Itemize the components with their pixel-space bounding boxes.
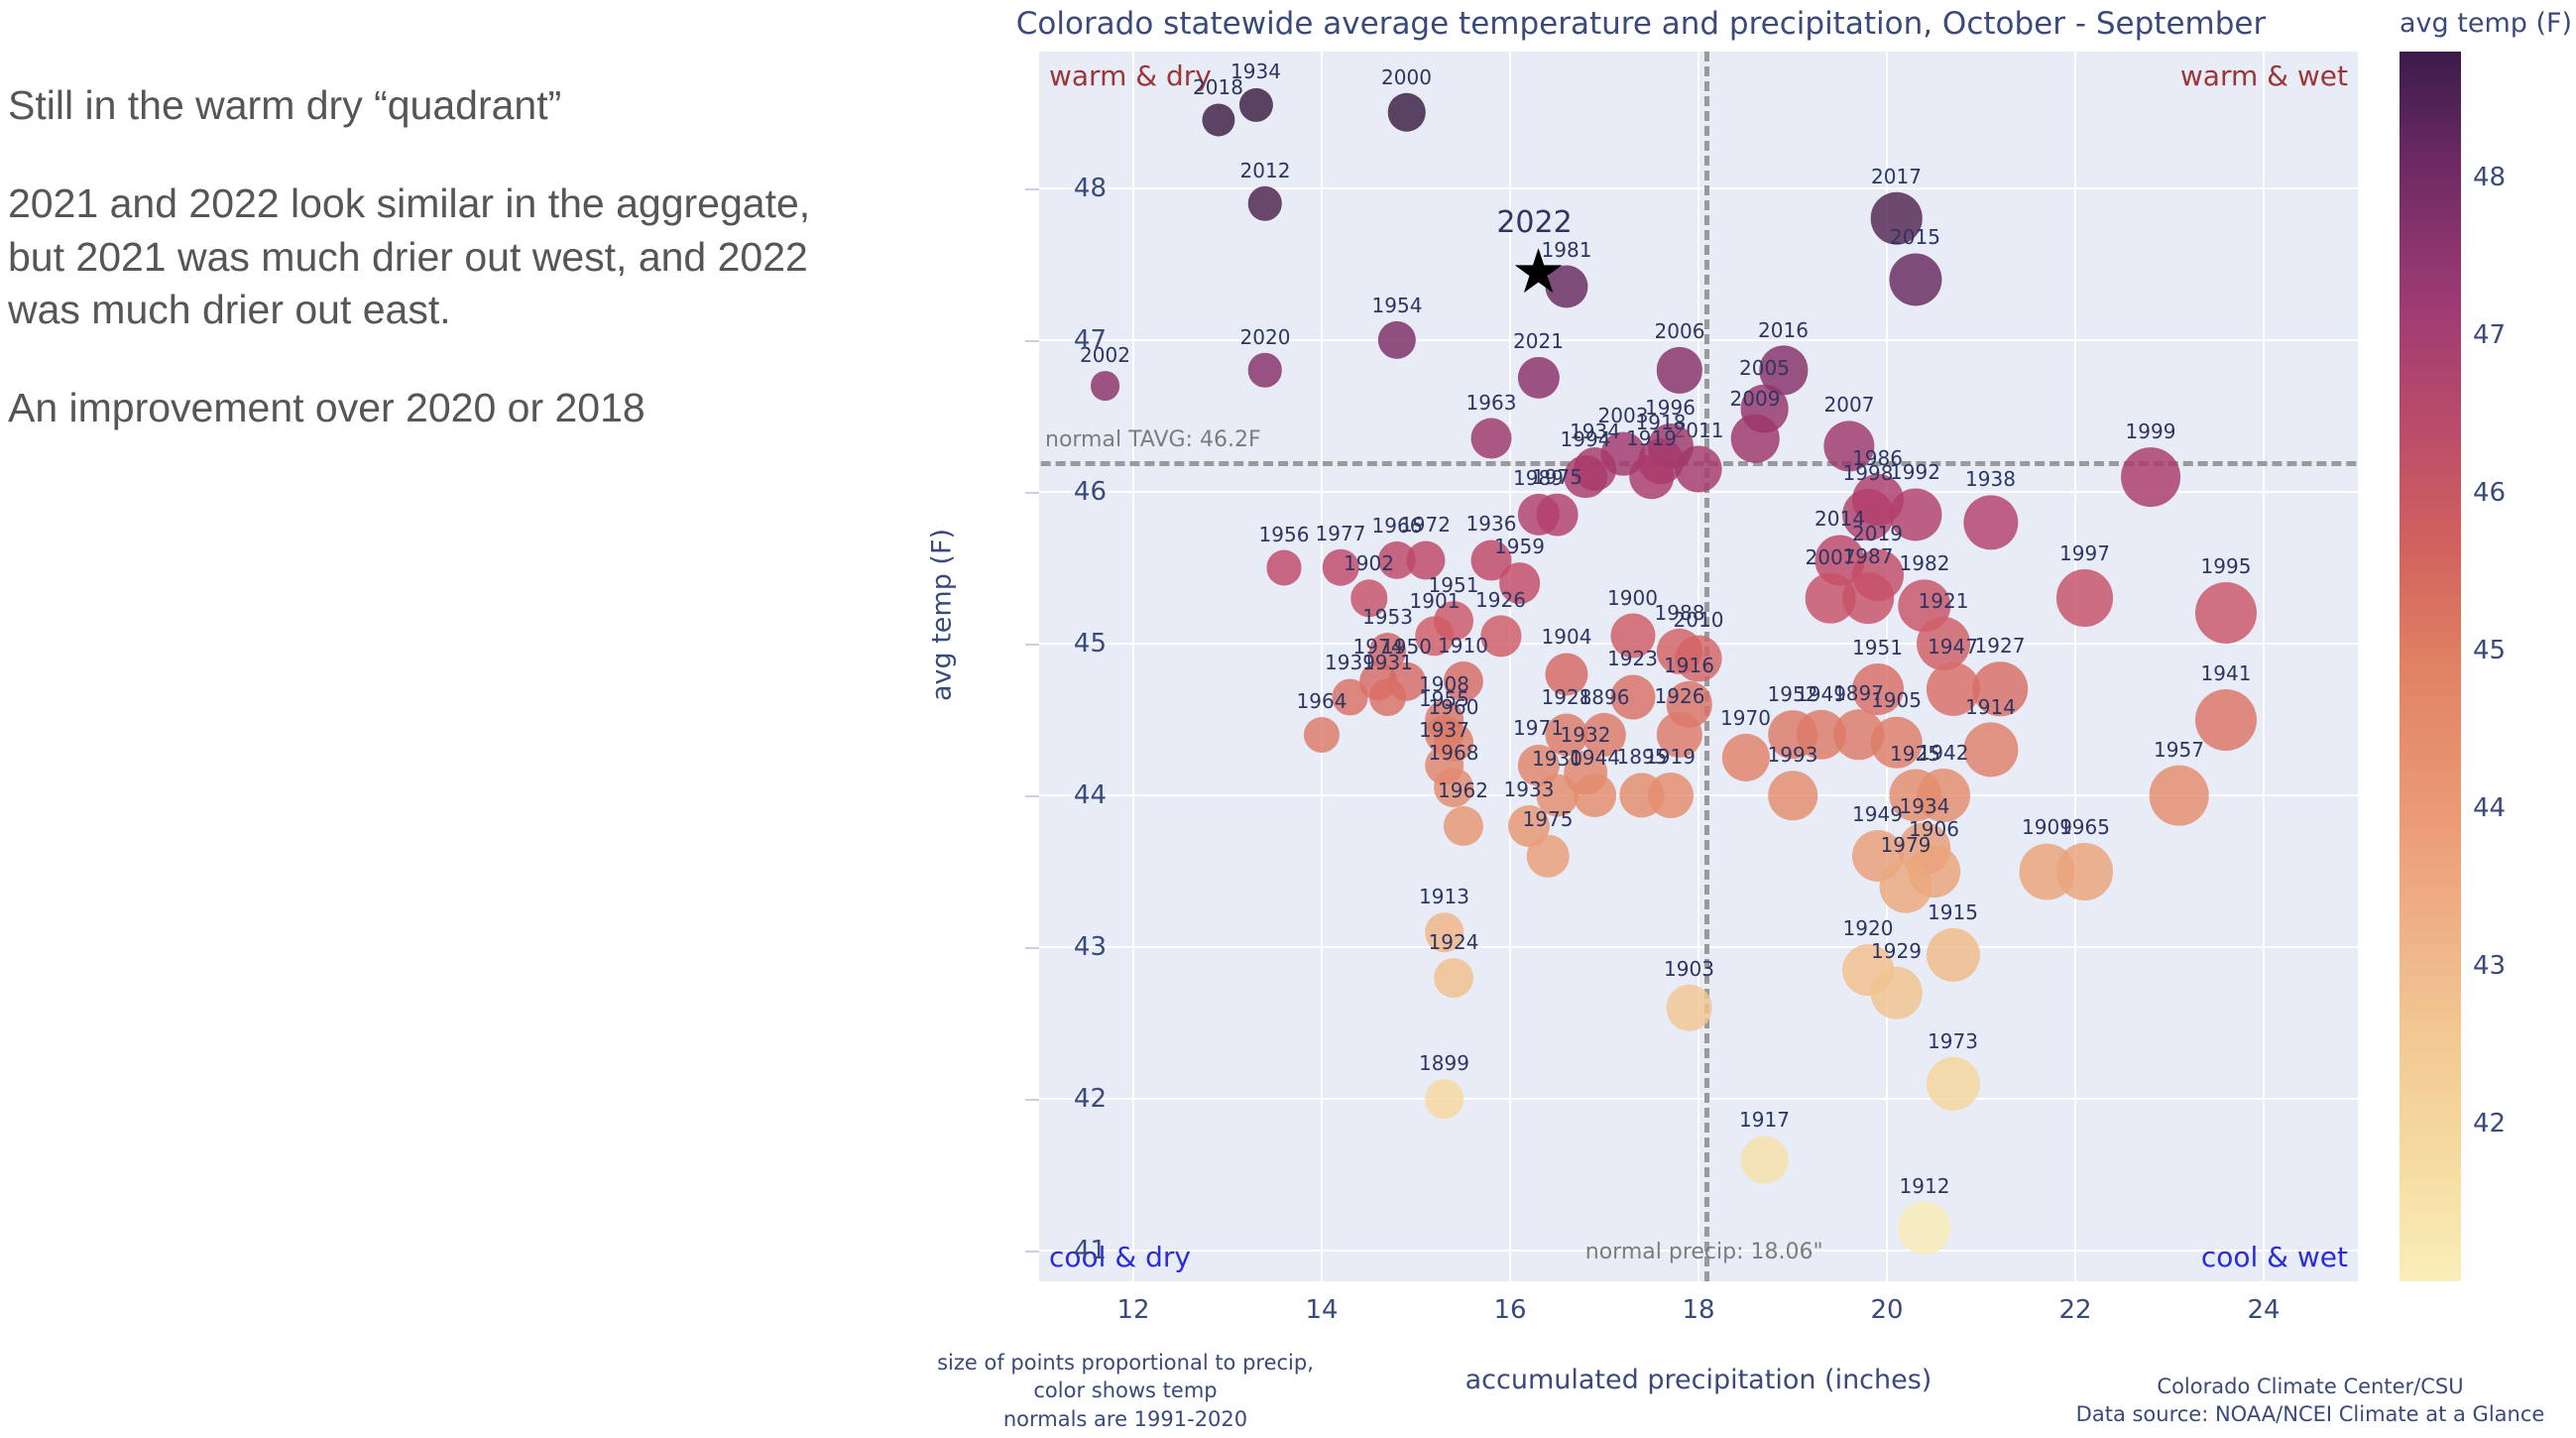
scatter-point[interactable] [1629,454,1675,500]
scatter-point[interactable] [1666,985,1712,1031]
grid-line-horizontal [1039,339,2358,341]
scatter-point[interactable] [1963,495,2018,549]
scatter-point-label: 1904 [1542,625,1592,649]
scatter-chart-figure: Colorado statewide average temperature a… [922,0,2576,1438]
scatter-point[interactable] [1582,713,1626,757]
y-axis-tick-label: 47 [1074,325,1107,355]
scatter-point[interactable] [1851,663,1903,715]
figure-footnote: size of points proportional to precip,co… [912,1349,1339,1433]
scatter-point[interactable] [1564,455,1607,499]
normal-temp-label: normal TAVG: 46.2F [1045,427,1261,452]
scatter-point-label: 2000 [1381,65,1432,89]
scatter-point[interactable] [1406,540,1445,579]
scatter-point-label: 1997 [2059,541,2110,565]
scatter-point-label: 1949 [1796,682,1846,706]
colorbar-tick-label: 48 [2473,163,2506,192]
y-axis-tick-mark [1025,795,1039,797]
scatter-point-label: 1895 [1617,745,1668,769]
scatter-point[interactable] [2195,689,2257,751]
scatter-point-label: 1941 [2201,661,2252,685]
scatter-point[interactable] [1842,489,1894,540]
scatter-point[interactable] [1768,771,1817,820]
y-axis-tick-mark [1025,492,1039,494]
scatter-point[interactable] [1721,734,1769,781]
highlight-star-label: 2022 [1496,205,1572,240]
scatter-point[interactable] [2149,766,2209,826]
commentary-panel: Still in the warm dry “quadrant” 2021 an… [0,0,922,1438]
text-line: Data source: NOAA/NCEI Climate at a Glan… [2052,1400,2568,1428]
highlight-star-marker[interactable]: ★ [1511,247,1567,297]
scatter-point[interactable] [1963,723,2018,778]
y-axis-tick-label: 48 [1074,174,1107,203]
y-axis-tick-mark [1025,1099,1039,1101]
x-axis-tick-label: 14 [1305,1295,1338,1325]
x-axis-tick-label: 16 [1493,1295,1526,1325]
scatter-point[interactable] [1434,769,1473,808]
scatter-point[interactable] [1527,835,1570,878]
scatter-point-label: 1972 [1400,513,1451,537]
y-axis-tick-mark [1025,644,1039,646]
scatter-point[interactable] [2056,569,2114,627]
quadrant-label-cool-dry: cool & dry [1049,1241,1191,1273]
colorbar-tick-label: 47 [2473,320,2506,350]
scatter-point-label: 1917 [1739,1108,1790,1132]
scatter-point-label: 1913 [1419,885,1469,908]
scatter-point[interactable] [1248,186,1282,220]
grid-line-horizontal [1039,187,2358,189]
scatter-point-label: 1942 [1919,741,1969,765]
scatter-point[interactable] [1443,661,1482,701]
scatter-point-label: 1938 [1965,467,2016,491]
y-axis-tick-label: 41 [1074,1236,1107,1265]
commentary-paragraph-1: Still in the warm dry “quadrant” [8,79,811,132]
scatter-point[interactable] [1842,572,1894,624]
commentary-paragraph-3: An improvement over 2020 or 2018 [8,382,811,434]
scatter-point[interactable] [1870,967,1923,1019]
scatter-point[interactable] [1889,488,1941,540]
scatter-point[interactable] [1304,717,1340,753]
grid-line-vertical [2074,52,2076,1281]
text-line: size of points proportional to precip, [912,1349,1339,1377]
plot-area: normal TAVG: 46.2Fnormal precip: 18.06"w… [1039,52,2358,1281]
grid-line-horizontal [1039,1098,2358,1100]
scatter-point[interactable] [1610,674,1655,719]
scatter-point-label: 1995 [2201,554,2252,578]
scatter-point[interactable] [1480,616,1521,657]
y-axis-tick-mark [1025,947,1039,949]
scatter-point[interactable] [1610,614,1655,659]
scatter-point[interactable] [1091,371,1120,401]
scatter-point-label: 2020 [1240,325,1291,349]
scatter-point[interactable] [1870,192,1923,245]
y-axis-tick-label: 45 [1074,629,1107,659]
scatter-point-label: 1951 [1852,636,1903,659]
scatter-point-label: 1951 [1429,573,1479,597]
scatter-point-label: 1927 [1975,634,2026,658]
scatter-point-label: 2017 [1871,165,1922,188]
x-axis-tick-label: 12 [1116,1295,1149,1325]
colorbar-tick-label: 45 [2473,636,2506,665]
scatter-point[interactable] [2195,582,2257,644]
scatter-point-label: 1989 [1513,466,1564,490]
scatter-point-label: 1973 [1928,1029,1978,1053]
scatter-point-label: 1915 [1928,900,1978,924]
scatter-point-label: 1909 [2022,815,2072,839]
text-line: normals are 1991-2020 [912,1405,1339,1433]
scatter-point[interactable] [1889,253,1941,305]
grid-line-horizontal [1039,946,2358,948]
scatter-point[interactable] [1369,678,1407,716]
colorbar-gradient [2400,52,2461,1281]
scatter-point[interactable] [1898,1202,1950,1255]
scatter-point[interactable] [1499,562,1541,604]
scatter-point[interactable] [2056,843,2114,900]
scatter-point-label: 1957 [2154,738,2204,762]
scatter-point[interactable] [1657,347,1702,393]
normal-precip-label: normal precip: 18.06" [1585,1240,1823,1264]
scatter-point[interactable] [1238,87,1272,121]
scatter-point[interactable] [1332,678,1368,715]
scatter-point-label: 1899 [1419,1051,1469,1075]
scatter-point-label: 1900 [1607,586,1658,610]
scatter-point[interactable] [1378,321,1416,359]
scatter-point-label: 1912 [1900,1174,1950,1198]
scatter-point-label: 1977 [1316,522,1366,545]
y-axis-tick-mark [1025,1251,1039,1253]
scatter-point[interactable] [1434,958,1473,998]
scatter-point-label: 1952 [1768,682,1818,706]
scatter-point-label: 1999 [2126,419,2176,443]
quadrant-label-warm-wet: warm & wet [2180,60,2348,92]
scatter-point[interactable] [1545,653,1587,695]
text-line: color shows temp [912,1377,1339,1404]
colorbar-title: avg temp (F) [2400,8,2572,39]
colorbar-tick-label: 46 [2473,478,2506,508]
scatter-point[interactable] [1880,861,1932,913]
y-axis-tick-label: 42 [1074,1084,1107,1114]
y-axis-tick-mark [1025,188,1039,190]
scatter-point[interactable] [1266,550,1301,585]
scatter-point[interactable] [1740,1136,1789,1184]
grid-line-vertical [1132,52,1134,1281]
x-axis-tick-label: 20 [1870,1295,1903,1325]
scatter-point[interactable] [1972,661,2028,717]
scatter-point-label: 2021 [1513,329,1564,353]
grid-line-vertical [1321,52,1323,1281]
scatter-point[interactable] [1202,103,1234,136]
y-axis-tick-label: 44 [1074,780,1107,810]
scatter-point-label: 2012 [1240,159,1291,182]
quadrant-label-cool-wet: cool & wet [2201,1241,2348,1273]
scatter-point[interactable] [1574,774,1617,817]
scatter-point[interactable] [1387,93,1426,132]
chart-title: Colorado statewide average temperature a… [922,6,2360,42]
x-axis-tick-label: 24 [2247,1295,2280,1325]
scatter-point[interactable] [1676,636,1722,682]
scatter-point-label: 1934 [1230,60,1281,83]
commentary-paragraph-2: 2021 and 2022 look similar in the aggreg… [8,178,811,336]
scatter-point-label: 1982 [1900,551,1950,575]
scatter-point[interactable] [1248,353,1282,387]
y-axis-label: avg temp (F) [927,529,958,701]
scatter-point-label: 1966 [1372,514,1423,538]
scatter-point[interactable] [1926,1057,1979,1111]
scatter-point-label: 1965 [2059,815,2110,839]
colorbar: avg temp (F) 48474645444342 [2400,52,2461,1281]
scatter-point[interactable] [1415,617,1454,656]
scatter-point[interactable] [1536,493,1579,536]
y-axis-tick-label: 46 [1074,477,1107,507]
scatter-point[interactable] [1323,549,1359,586]
scatter-point[interactable] [1443,806,1482,846]
scatter-point[interactable] [1517,357,1559,399]
scatter-point[interactable] [1917,769,1970,822]
scatter-point[interactable] [2121,447,2180,507]
scatter-point-label: 1956 [1259,523,1310,546]
scatter-point[interactable] [1926,928,1979,982]
scatter-point[interactable] [1917,617,1970,670]
scatter-point-label: 1970 [1720,706,1771,730]
scatter-point-label: 2007 [1824,393,1875,417]
scatter-point[interactable] [1471,419,1512,459]
colorbar-tick-label: 42 [2473,1109,2506,1138]
x-axis-tick-label: 22 [2058,1295,2091,1325]
scatter-point-label: 1954 [1372,294,1423,317]
scatter-point[interactable] [1647,773,1693,818]
figure-credits: Colorado Climate Center/CSUData source: … [2052,1373,2568,1429]
scatter-point-label: 2003 [1598,404,1649,427]
colorbar-tick-label: 44 [2473,793,2506,823]
scatter-point[interactable] [1350,579,1387,616]
scatter-point-label: 1996 [1645,396,1696,419]
scatter-point[interactable] [1425,912,1464,952]
y-axis-tick-label: 43 [1074,932,1107,962]
scatter-point[interactable] [1657,712,1702,758]
y-axis-tick-mark [1025,340,1039,342]
x-axis-tick-label: 18 [1682,1295,1714,1325]
scatter-point[interactable] [1870,716,1923,769]
grid-line-vertical [2263,52,2265,1281]
text-line: Colorado Climate Center/CSU [2052,1373,2568,1400]
quadrant-label-warm-dry: warm & dry [1049,60,1212,92]
scatter-point[interactable] [1425,1079,1464,1119]
scatter-point[interactable] [1731,415,1780,463]
colorbar-tick-label: 43 [2473,951,2506,981]
